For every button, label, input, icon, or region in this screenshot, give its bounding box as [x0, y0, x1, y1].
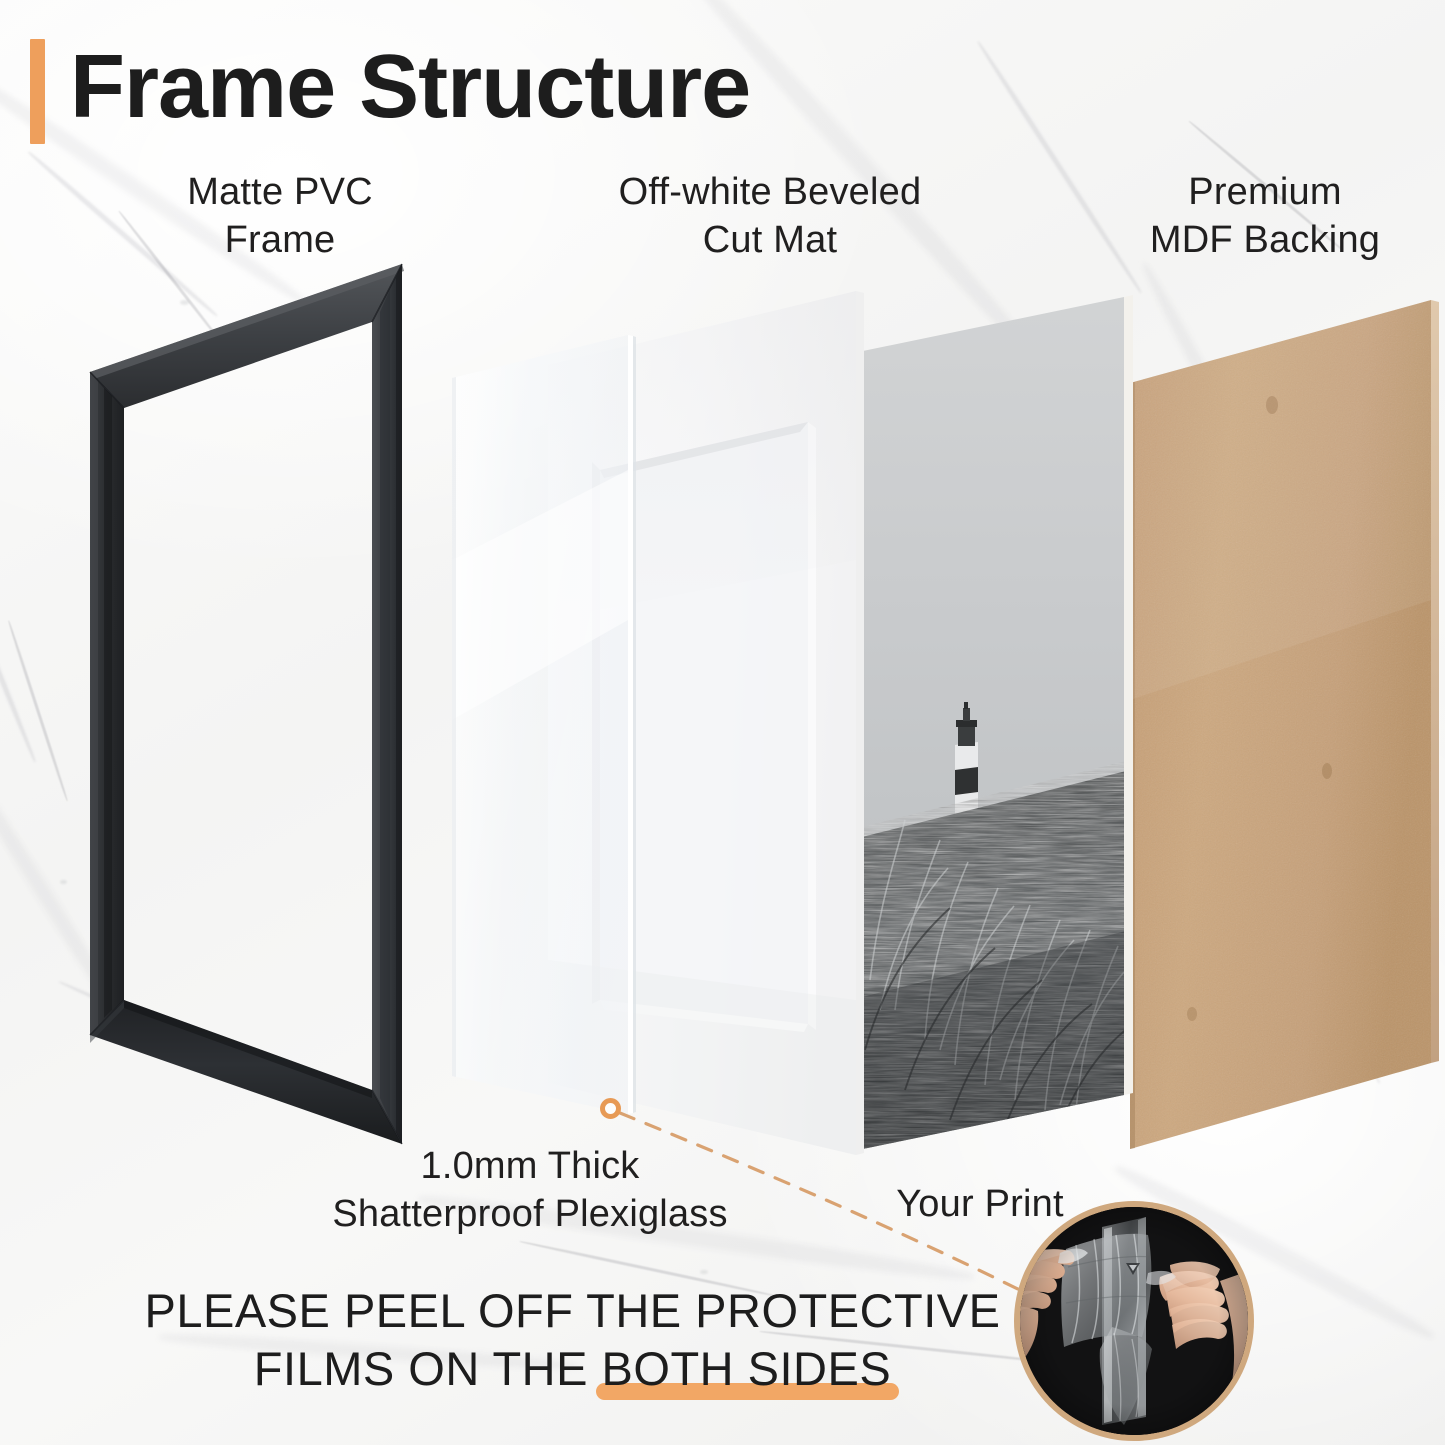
notice-line-1: PLEASE PEEL OFF THE PROTECTIVE	[120, 1282, 1025, 1340]
plexiglass-callout-dot	[600, 1098, 621, 1119]
notice-line-2-prefix: FILMS ON THE	[254, 1342, 602, 1395]
peel-film-notice: PLEASE PEEL OFF THE PROTECTIVE FILMS ON …	[120, 1282, 1025, 1398]
label-your-print: Your Print	[830, 1180, 1130, 1228]
notice-line-2-highlight: BOTH SIDES	[602, 1342, 892, 1395]
title-accent-bar	[30, 39, 45, 144]
label-line-2: MDF Backing	[1085, 216, 1445, 264]
label-line-2: Shatterproof Plexiglass	[205, 1190, 855, 1238]
peel-film-inset-photo	[1020, 1207, 1248, 1435]
label-matte-pvc-frame: Matte PVC Frame	[110, 168, 450, 264]
label-line-1: Matte PVC	[110, 168, 450, 216]
page-title: Frame Structure	[70, 28, 750, 146]
label-line-1: 1.0mm Thick	[205, 1142, 855, 1190]
label-shatterproof-plexiglass: 1.0mm Thick Shatterproof Plexiglass	[205, 1142, 855, 1238]
label-line-1: Premium	[1085, 168, 1445, 216]
label-line-1: Your Print	[830, 1180, 1130, 1228]
notice-highlight-group: BOTH SIDES	[602, 1340, 892, 1398]
label-off-white-beveled-cut-mat: Off-white Beveled Cut Mat	[520, 168, 1020, 264]
infographic-canvas: Frame Structure Matte PVC Frame Off-whit…	[0, 0, 1445, 1445]
label-line-2: Frame	[110, 216, 450, 264]
label-line-1: Off-white Beveled	[520, 168, 1020, 216]
header: Frame Structure	[0, 0, 1445, 152]
label-line-2: Cut Mat	[520, 216, 1020, 264]
label-premium-mdf-backing: Premium MDF Backing	[1085, 168, 1445, 264]
notice-line-2: FILMS ON THE BOTH SIDES	[120, 1340, 1025, 1398]
